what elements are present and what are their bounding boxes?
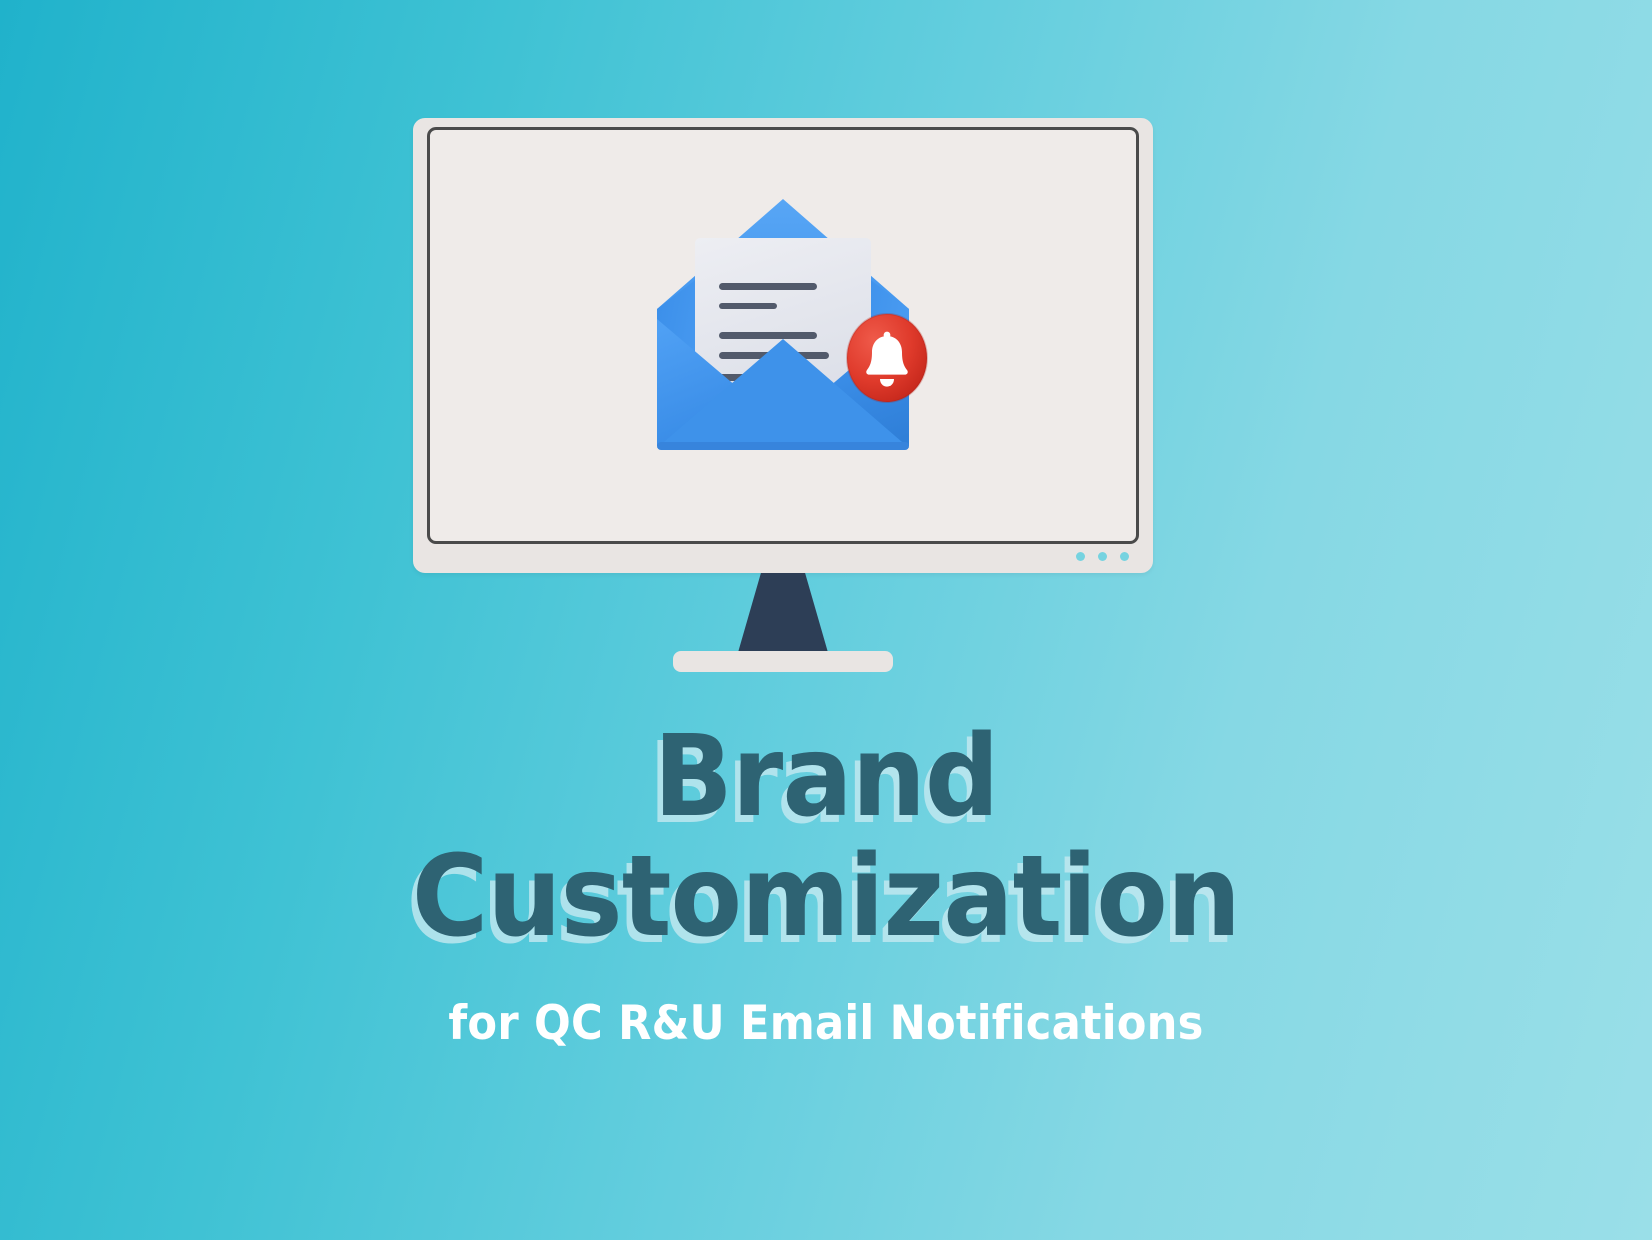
poster-canvas: Brand Customization for QC R&U Email Not… (0, 0, 1652, 1240)
desktop-monitor (413, 118, 1153, 573)
monitor-stand-base (673, 651, 893, 672)
indicator-dot (1120, 552, 1129, 561)
notification-bell-badge (847, 314, 927, 402)
envelope-bottom-edge (657, 442, 909, 450)
monitor-screen (427, 127, 1139, 544)
page-title: Brand Customization (0, 718, 1652, 958)
page-title-line-1: Brand (58, 718, 1594, 838)
page-title-line-2: Customization (58, 838, 1594, 958)
page-subtitle: for QC R&U Email Notifications (66, 998, 1586, 1050)
indicator-dot (1098, 552, 1107, 561)
open-envelope-icon (613, 176, 953, 496)
monitor-indicator-dots (1076, 552, 1129, 561)
email-notification-illustration (613, 176, 953, 496)
monitor-stand-neck (737, 573, 829, 656)
indicator-dot (1076, 552, 1085, 561)
